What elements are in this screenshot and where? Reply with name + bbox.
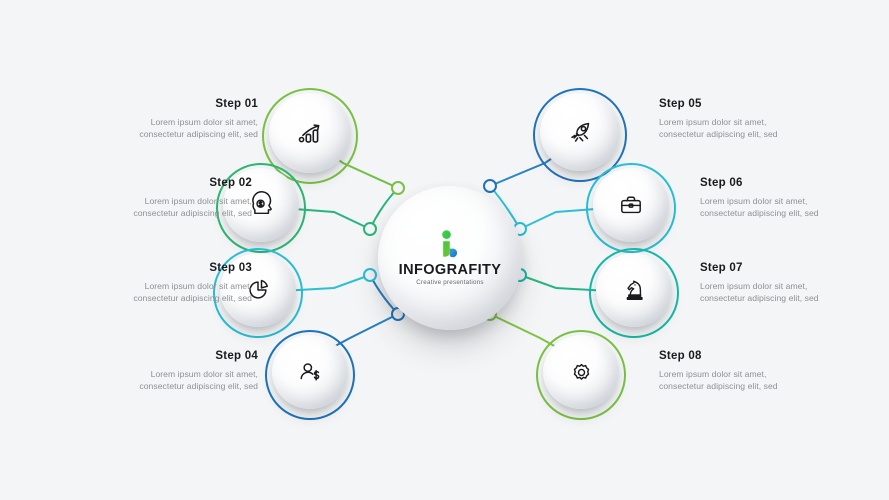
step-05-title: Step 05 <box>659 99 809 111</box>
growth-chart-icon <box>295 118 325 148</box>
step-02-description: Lorem ipsum dolor sit amet, consectetur … <box>102 195 252 220</box>
step-04-text: Step 04 Lorem ipsum dolor sit amet, cons… <box>108 351 258 392</box>
step-03-title: Step 03 <box>102 263 252 275</box>
step-07-description: Lorem ipsum dolor sit amet, consectetur … <box>700 280 850 305</box>
step-08-title: Step 08 <box>659 351 809 363</box>
step-02-title: Step 02 <box>102 178 252 190</box>
step-03-description: Lorem ipsum dolor sit amet, consectetur … <box>102 280 252 305</box>
step-04-node[interactable] <box>265 330 355 420</box>
infographic-canvas: Step 01 Lorem ipsum dolor sit amet, cons… <box>0 0 889 500</box>
step-01-text: Step 01 Lorem ipsum dolor sit amet, cons… <box>108 99 258 140</box>
step-07-title: Step 07 <box>700 263 850 275</box>
junction-node-2 <box>364 223 376 235</box>
step-05-text: Step 05 Lorem ipsum dolor sit amet, cons… <box>659 99 809 140</box>
letter-i-logo-icon <box>437 230 463 260</box>
step-06-text: Step 06 Lorem ipsum dolor sit amet, cons… <box>700 178 850 219</box>
step-06-description: Lorem ipsum dolor sit amet, consectetur … <box>700 195 850 220</box>
step-07-text: Step 07 Lorem ipsum dolor sit amet, cons… <box>700 263 850 304</box>
step-08-sphere <box>543 335 619 409</box>
step-01-title: Step 01 <box>108 99 258 111</box>
person-dollar-icon <box>296 358 324 386</box>
step-08-text: Step 08 Lorem ipsum dolor sit amet, cons… <box>659 351 809 392</box>
chess-knight-icon <box>621 277 648 304</box>
gear-icon <box>568 359 595 386</box>
center-sphere: INFOGRAFITY Creative presentations <box>378 186 522 330</box>
step-06-title: Step 06 <box>700 178 850 190</box>
step-03-text: Step 03 Lorem ipsum dolor sit amet, cons… <box>102 263 252 304</box>
step-01-sphere <box>269 93 351 173</box>
step-07-node[interactable] <box>589 248 679 338</box>
step-04-description: Lorem ipsum dolor sit amet, consectetur … <box>108 368 258 393</box>
step-05-sphere <box>540 93 620 171</box>
step-05-description: Lorem ipsum dolor sit amet, consectetur … <box>659 116 809 141</box>
step-07-sphere <box>596 253 672 327</box>
step-04-title: Step 04 <box>108 351 258 363</box>
center-title: INFOGRAFITY <box>399 263 502 278</box>
step-02-text: Step 02 Lorem ipsum dolor sit amet, cons… <box>102 178 252 219</box>
step-01-description: Lorem ipsum dolor sit amet, consectetur … <box>108 116 258 141</box>
step-08-node[interactable] <box>536 330 626 420</box>
center-subtitle: Creative presentations <box>416 280 483 286</box>
step-06-sphere <box>593 168 669 242</box>
step-08-description: Lorem ipsum dolor sit amet, consectetur … <box>659 368 809 393</box>
rocket-icon <box>566 118 595 147</box>
step-06-node[interactable] <box>586 163 676 253</box>
junction-node-3 <box>364 269 376 281</box>
center-node[interactable]: INFOGRAFITY Creative presentations <box>378 186 522 330</box>
briefcase-icon <box>617 191 645 219</box>
step-04-sphere <box>272 335 348 409</box>
